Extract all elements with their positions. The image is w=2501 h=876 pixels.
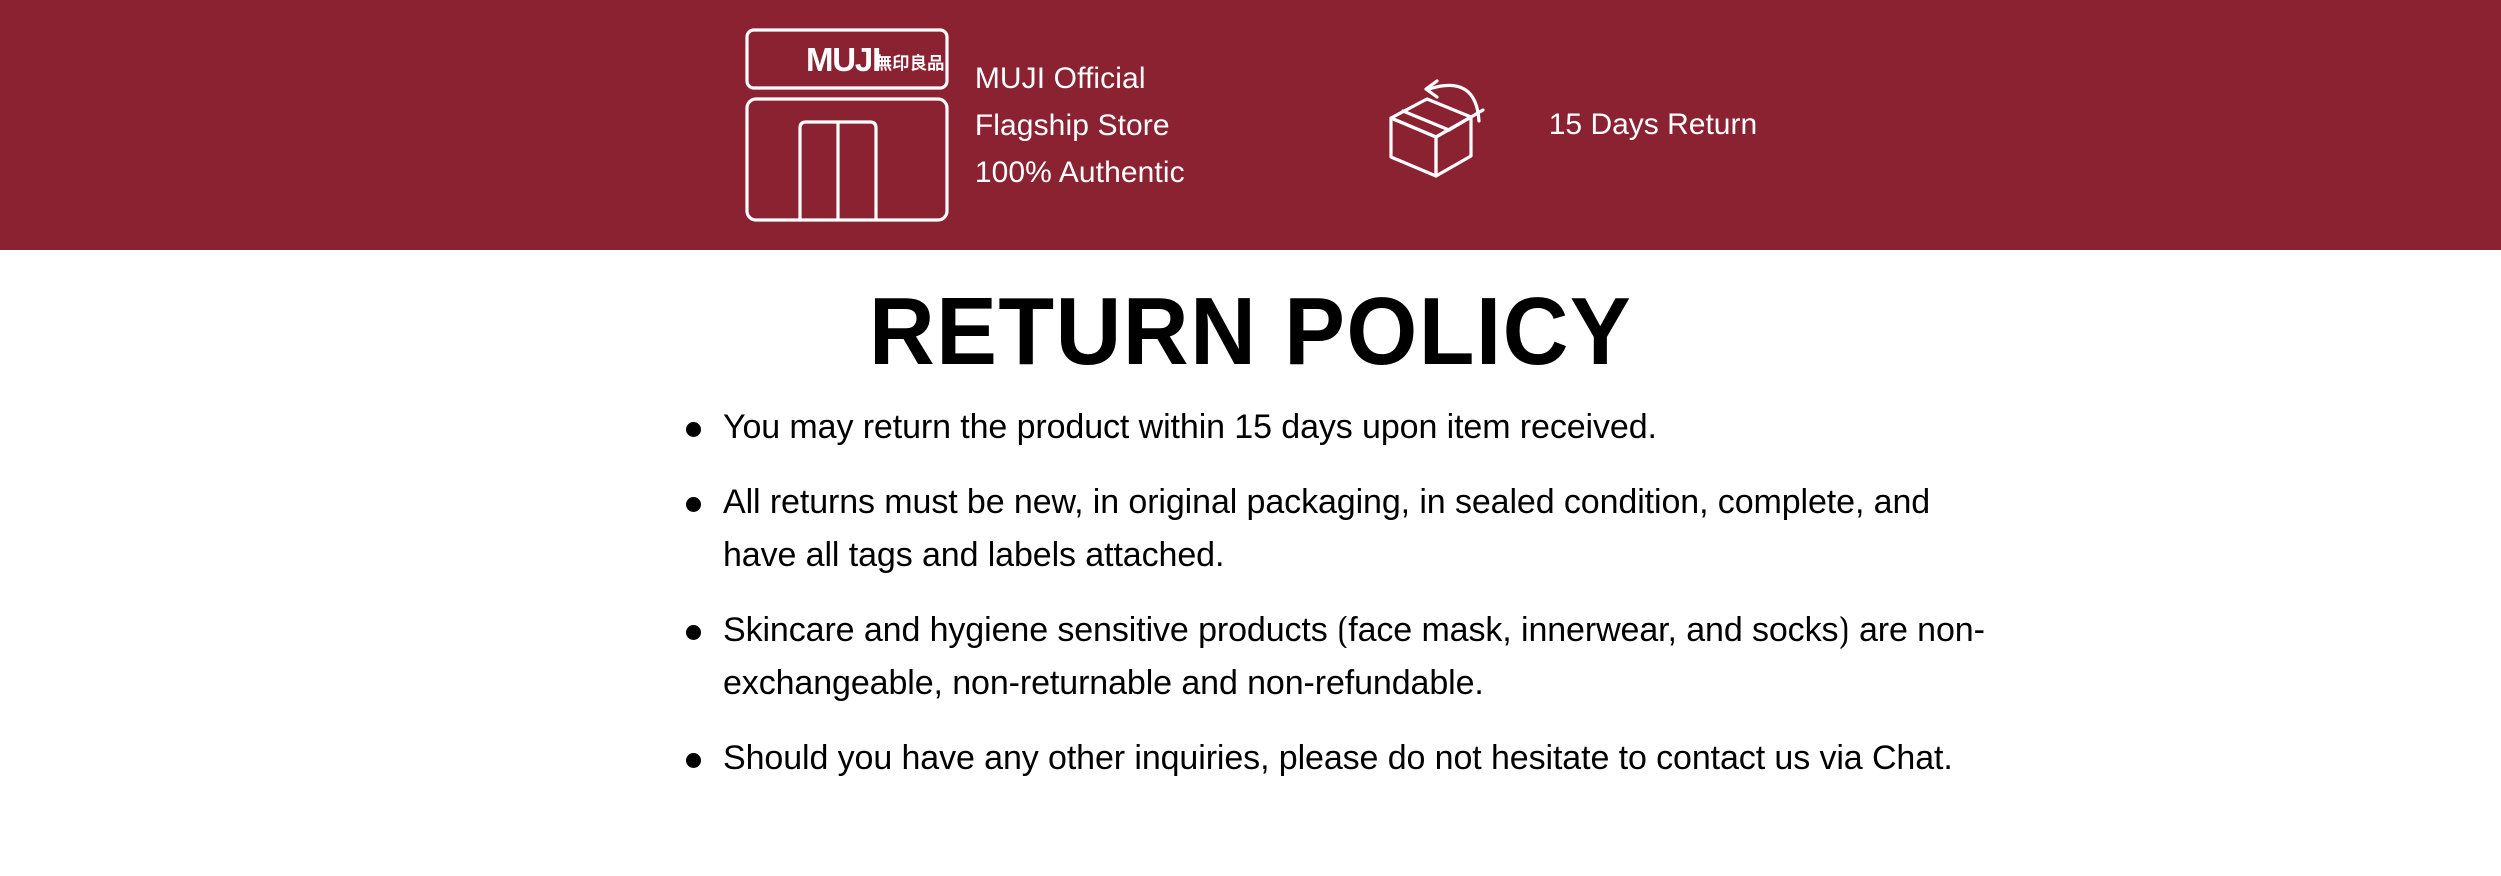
badge-spacer xyxy=(1185,125,1379,126)
storefront-line-3: 100% Authentic xyxy=(975,149,1185,196)
list-item: All returns must be new, in original pac… xyxy=(686,476,1986,582)
muji-storefront-icon: MUJI 無印良品 xyxy=(744,27,950,223)
bullet-dot-icon xyxy=(686,497,701,512)
storefront-line-1: MUJI Official xyxy=(975,55,1185,102)
muji-wordmark-jp: 無印良品 xyxy=(875,53,945,74)
list-item: Should you have any other inquiries, ple… xyxy=(686,732,1986,785)
bullet-dot-icon xyxy=(686,625,701,640)
storefront-line-2: Flagship Store xyxy=(975,102,1185,149)
list-item: Skincare and hygiene sensitive products … xyxy=(686,604,1986,710)
list-item-text: Should you have any other inquiries, ple… xyxy=(723,732,1986,785)
list-item: You may return the product within 15 day… xyxy=(686,401,1986,454)
list-item-text: All returns must be new, in original pac… xyxy=(723,476,1986,582)
list-item-text: You may return the product within 15 day… xyxy=(723,401,1986,454)
page-title: RETURN POLICY xyxy=(63,282,2439,383)
return-badge: 15 Days Return xyxy=(1379,50,1757,200)
list-item-text: Skincare and hygiene sensitive products … xyxy=(723,604,1986,710)
brand-header-band: MUJI 無印良品 MUJI Official Flagship Store 1… xyxy=(0,0,2501,250)
return-policy-page: MUJI 無印良品 MUJI Official Flagship Store 1… xyxy=(0,0,2501,876)
policy-bullet-list: You may return the product within 15 day… xyxy=(686,401,1986,785)
storefront-text-block: MUJI Official Flagship Store 100% Authen… xyxy=(975,55,1185,196)
muji-wordmark: MUJI xyxy=(806,41,880,78)
storefront-badge: MUJI 無印良品 MUJI Official Flagship Store 1… xyxy=(744,27,1185,223)
policy-body: RETURN POLICY You may return the product… xyxy=(0,250,2501,876)
bullet-dot-icon xyxy=(686,753,701,768)
return-days-label: 15 Days Return xyxy=(1549,108,1757,142)
header-badges: MUJI 無印良品 MUJI Official Flagship Store 1… xyxy=(744,27,1757,223)
bullet-dot-icon xyxy=(686,422,701,437)
return-box-arrow-icon xyxy=(1379,50,1529,200)
